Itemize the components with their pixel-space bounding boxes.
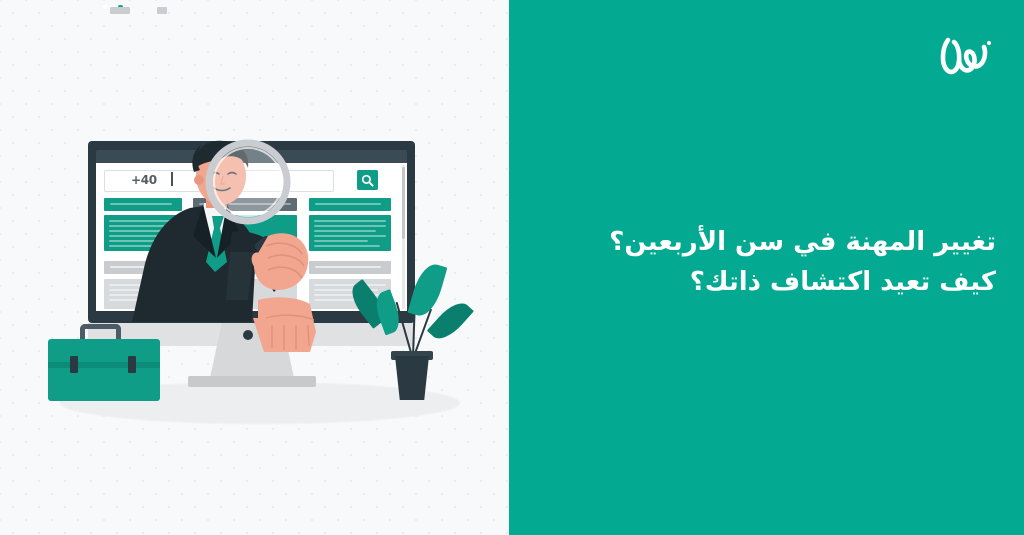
briefcase-strip xyxy=(48,362,160,368)
headline-line-2: كيف تعيد اكتشاف ذاتك؟ xyxy=(536,262,996,302)
gripping-hand xyxy=(253,297,316,352)
illustration-panel: +40 xyxy=(0,0,509,535)
briefcase xyxy=(48,339,160,401)
page-title: تغيير المهنة في سن الأربعين؟ كيف تعيد اك… xyxy=(536,222,996,303)
content-panel: تغيير المهنة في سن الأربعين؟ كيف تعيد اك… xyxy=(509,0,1024,535)
banner-canvas: +40 xyxy=(0,0,1024,535)
briefcase-clasp xyxy=(70,356,78,373)
brand-script-logo[interactable] xyxy=(934,30,998,82)
headline-line-1: تغيير المهنة في سن الأربعين؟ xyxy=(536,222,996,262)
briefcase-clasp xyxy=(128,356,136,373)
plant-pot xyxy=(395,356,429,400)
